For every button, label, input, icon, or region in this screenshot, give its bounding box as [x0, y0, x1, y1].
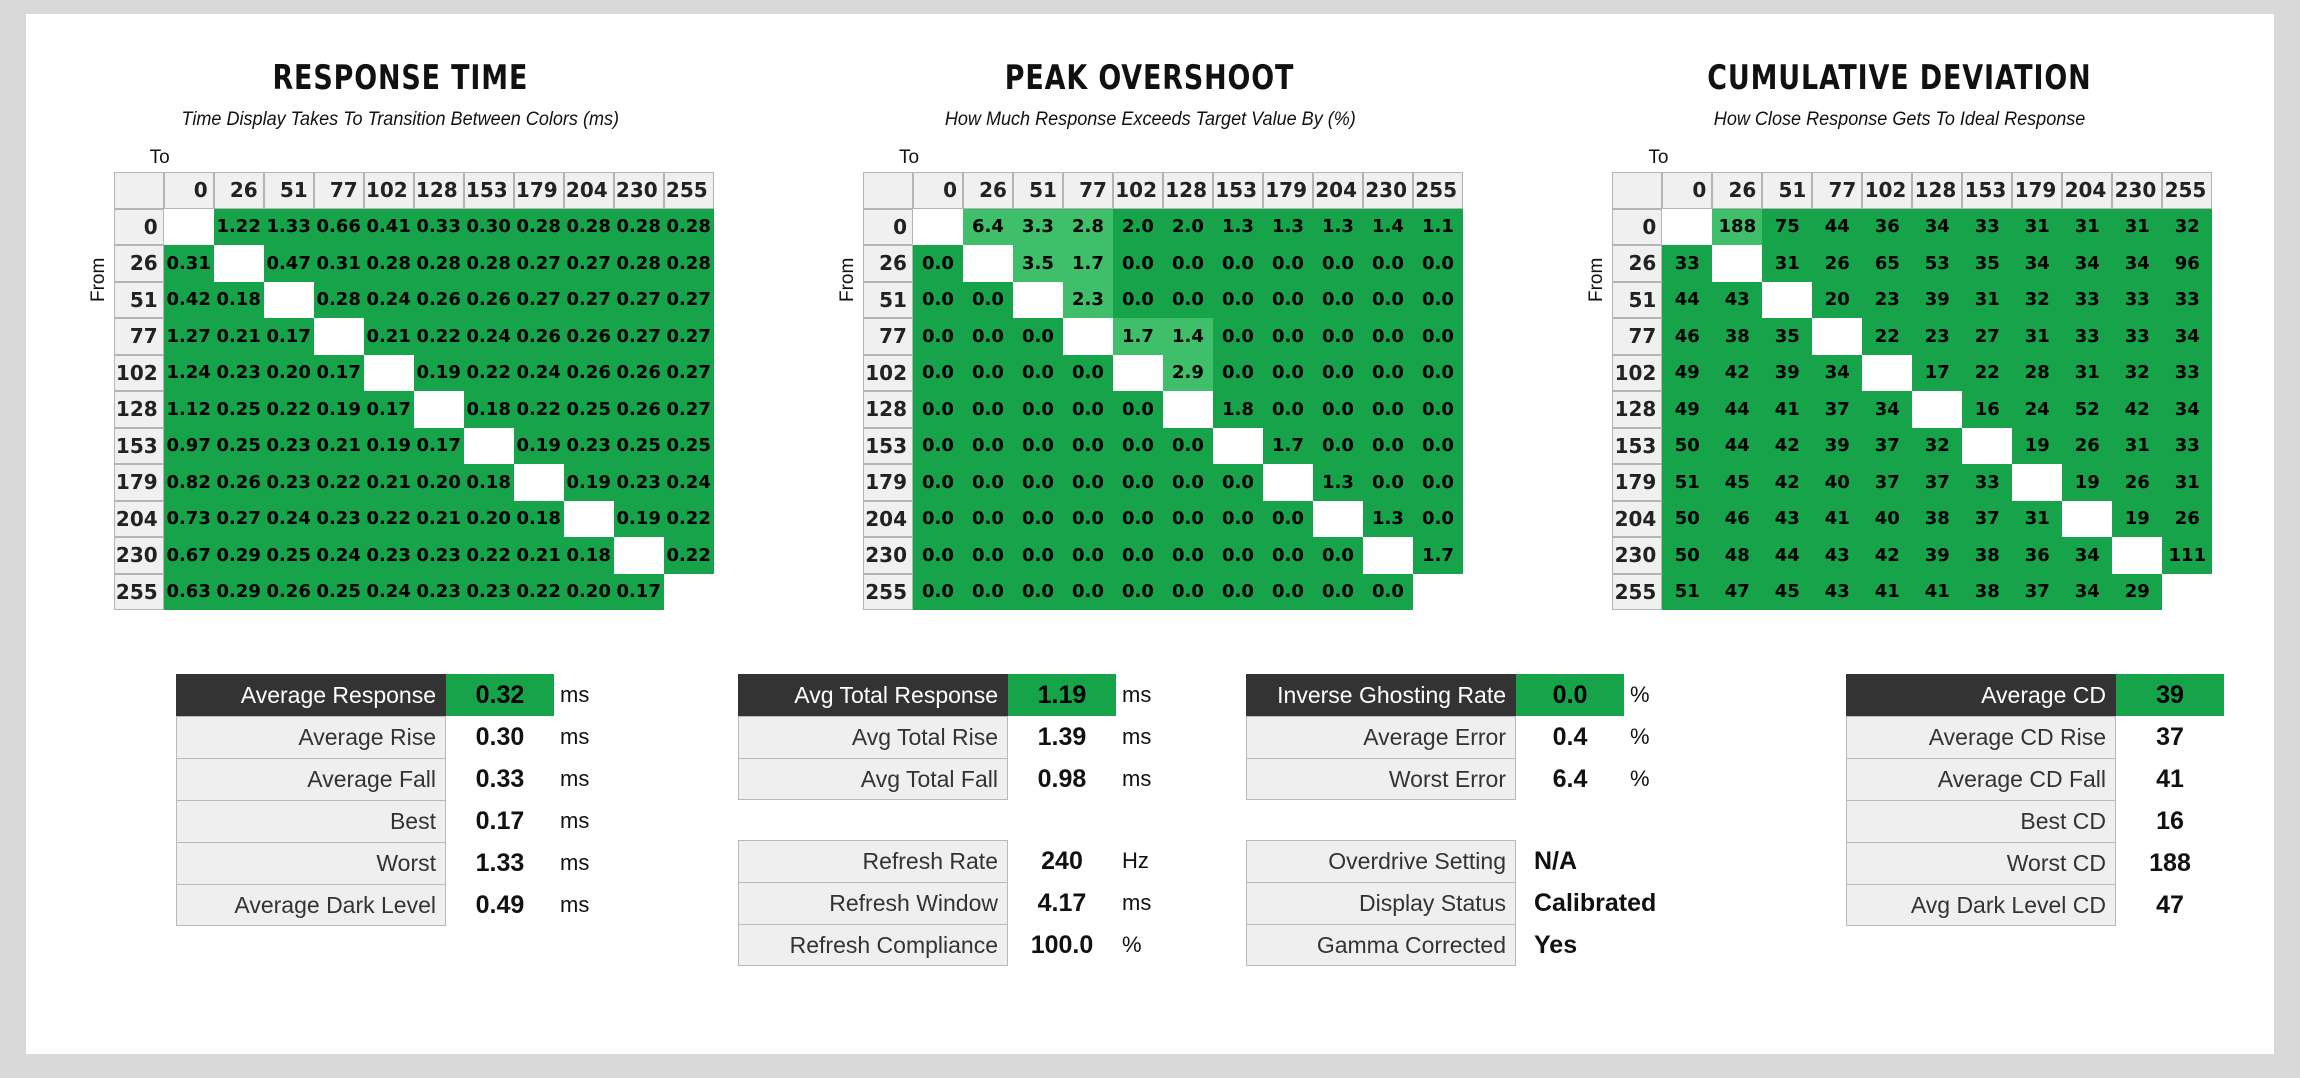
matrix-cell: 33: [2112, 282, 2162, 319]
matrix-cell: 0.31: [314, 245, 364, 282]
matrix-columns: To02651771021281531792042302550188754436…: [1612, 147, 2212, 610]
matrix-row: 01.221.330.660.410.330.300.280.280.280.2…: [114, 209, 714, 246]
row-header: 230: [114, 537, 164, 574]
matrix-cell: 38: [1962, 574, 2012, 611]
matrix-row: 17951454240373733192631: [1612, 464, 2212, 501]
stat-unit: [1666, 882, 1722, 924]
matrix-cell: 0.23: [314, 501, 364, 538]
column-header: 230: [614, 172, 664, 209]
matrix-cell: 0.0: [1213, 464, 1263, 501]
matrix-cell: 1.27: [164, 318, 214, 355]
matrix-diagonal-cell: [1812, 318, 1862, 355]
matrix-cell: 0.17: [614, 574, 664, 611]
matrix-cell: 1.12: [164, 391, 214, 428]
matrix-cell: 16: [1962, 391, 2012, 428]
panel-title: CUMULATIVE DEVIATION: [1707, 58, 2091, 98]
stat-row: Avg Total Rise1.39ms: [738, 716, 1172, 758]
matrix-cell: 2.9: [1163, 355, 1213, 392]
matrix-cell: 0.66: [314, 209, 364, 246]
row-header: 0: [114, 209, 164, 246]
matrix-cell: 0.22: [664, 537, 714, 574]
matrix-cell: 26: [2112, 464, 2162, 501]
stat-value: 100.0: [1008, 924, 1116, 966]
matrix-cell: 0.0: [1013, 537, 1063, 574]
matrix-cell: 0.18: [214, 282, 264, 319]
matrix-cell: 44: [1812, 209, 1862, 246]
column-header: 0: [913, 172, 963, 209]
matrix-cell: 0.0: [913, 245, 963, 282]
matrix-cell: 0.25: [264, 537, 314, 574]
matrix-cell: 0.0: [1413, 245, 1463, 282]
matrix-cell: 36: [1862, 209, 1912, 246]
matrix-cell: 32: [1912, 428, 1962, 465]
column-header: 77: [314, 172, 364, 209]
matrix-diagonal-cell: [1762, 282, 1812, 319]
stats-column-3: Inverse Ghosting Rate0.0%Average Error0.…: [1246, 674, 1722, 1006]
matrix-cell: 52: [2062, 391, 2112, 428]
matrix-cell: 0.0: [1413, 391, 1463, 428]
row-header: 230: [863, 537, 913, 574]
matrix-diagonal-cell: [414, 391, 464, 428]
matrix-row: 2550.630.290.260.250.240.230.230.220.200…: [114, 574, 714, 611]
column-header: 128: [414, 172, 464, 209]
matrix-cell: 75: [1762, 209, 1812, 246]
matrix-cell: 0.26: [614, 391, 664, 428]
matrix-cell: 2.0: [1163, 209, 1213, 246]
matrix-row: 2633312665533534343496: [1612, 245, 2212, 282]
matrix-cell: 0.27: [564, 282, 614, 319]
stat-label: Gamma Corrected: [1246, 924, 1516, 966]
row-header: 0: [863, 209, 913, 246]
stat-value: 6.4: [1516, 758, 1624, 800]
matrix-cell: 39: [1912, 282, 1962, 319]
matrix-cell: 38: [1912, 501, 1962, 538]
matrix-diagonal-cell: [1363, 537, 1413, 574]
matrix-cell: 0.17: [314, 355, 364, 392]
transition-matrix: 0265177102128153179204230255018875443634…: [1612, 172, 2212, 610]
stats-column-1: Average Response0.32msAverage Rise0.30ms…: [176, 674, 610, 1006]
stat-row: Overdrive SettingN/A: [1246, 840, 1722, 882]
matrix-cell: 19: [2112, 501, 2162, 538]
matrix-diagonal-cell: [314, 318, 364, 355]
matrix-cell: 0.0: [1063, 355, 1113, 392]
matrix-cell: 0.28: [664, 245, 714, 282]
matrix-header-row: 0265177102128153179204230255: [114, 172, 714, 209]
matrix-diagonal-cell: [214, 245, 264, 282]
stat-label: Average CD Fall: [1846, 758, 2116, 800]
matrix-cell: 0.27: [514, 245, 564, 282]
column-header: 204: [564, 172, 614, 209]
stat-label: Average Fall: [176, 758, 446, 800]
matrix-cell: 22: [1862, 318, 1912, 355]
matrix-cell: 0.0: [1063, 574, 1113, 611]
matrix-diagonal-cell: [2112, 537, 2162, 574]
stat-unit: ms: [554, 800, 610, 842]
matrix-cell: 0.47: [264, 245, 314, 282]
matrix-cell: 44: [1712, 428, 1762, 465]
stats-block: Average CD39Average CD Rise37Average CD …: [1846, 674, 2280, 926]
matrix-cell: 0.24: [314, 537, 364, 574]
matrix-cell: 0.27: [564, 245, 614, 282]
stats-block: Refresh Rate240HzRefresh Window4.17msRef…: [738, 840, 1172, 966]
matrix-cell: 96: [2162, 245, 2212, 282]
stat-row: Average CD Rise37: [1846, 716, 2280, 758]
matrix-cell: 0.0: [1113, 464, 1163, 501]
matrix-cell: 0.0: [1263, 318, 1313, 355]
matrix-cell: 0.18: [464, 464, 514, 501]
matrix-cell: 0.0: [1163, 537, 1213, 574]
matrix-cell: 37: [1962, 501, 2012, 538]
stat-value: 1.39: [1008, 716, 1116, 758]
stats-column-2: Avg Total Response1.19msAvg Total Rise1.…: [738, 674, 1172, 1006]
stat-unit: %: [1624, 674, 1680, 716]
matrix-cell: 33: [2062, 318, 2112, 355]
matrix-cell: 1.7: [1263, 428, 1313, 465]
matrix-cell: 41: [1912, 574, 1962, 611]
matrix-cell: 0.20: [564, 574, 614, 611]
matrix-cell: 3.5: [1013, 245, 1063, 282]
matrix-cell: 17: [1912, 355, 1962, 392]
matrix-columns: To026517710212815317920423025501.221.330…: [114, 147, 714, 610]
matrix-row: 510.420.180.280.240.260.260.270.270.270.…: [114, 282, 714, 319]
matrix-cell: 0.0: [1363, 245, 1413, 282]
matrix-cell: 0.82: [164, 464, 214, 501]
matrix-corner-cell: [863, 172, 913, 209]
matrix-cell: 0.26: [414, 282, 464, 319]
matrix-cell: 32: [2112, 355, 2162, 392]
matrix-cell: 0.0: [1213, 282, 1263, 319]
matrix-cell: 0.23: [214, 355, 264, 392]
row-header: 0: [1612, 209, 1662, 246]
stat-unit: Hz: [1116, 840, 1172, 882]
matrix-cell: 45: [1762, 574, 1812, 611]
matrix-cell: 34: [2062, 245, 2112, 282]
matrix-row: 260.310.470.310.280.280.280.270.270.280.…: [114, 245, 714, 282]
matrix-cell: 0.41: [364, 209, 414, 246]
matrix-cell: 35: [1762, 318, 1812, 355]
matrix-cell: 43: [1812, 537, 1862, 574]
column-header: 26: [1712, 172, 1762, 209]
matrix-cell: 0.25: [564, 391, 614, 428]
matrix-cell: 0.0: [1313, 318, 1363, 355]
matrix-cell: 0.22: [514, 574, 564, 611]
matrix-cell: 38: [1962, 537, 2012, 574]
matrix-row: 12849444137341624524234: [1612, 391, 2212, 428]
stat-label: Best CD: [1846, 800, 2116, 842]
stat-row: Average Dark Level0.49ms: [176, 884, 610, 926]
axis-label-from: From: [837, 205, 863, 355]
matrix-row: 1021.240.230.200.170.190.220.240.260.260…: [114, 355, 714, 392]
matrix-cell: 24: [2012, 391, 2062, 428]
column-header: 179: [2012, 172, 2062, 209]
matrix-corner-cell: [114, 172, 164, 209]
matrix-cell: 0.0: [1113, 574, 1163, 611]
matrix-panel-0: RESPONSE TIMETime Display Takes To Trans…: [26, 14, 775, 610]
column-header: 204: [2062, 172, 2112, 209]
matrix-row: 230504844434239383634111: [1612, 537, 2212, 574]
stat-row: Best0.17ms: [176, 800, 610, 842]
matrix-cell: 0.21: [314, 428, 364, 465]
matrix-cell: 0.17: [414, 428, 464, 465]
stat-value: 0.30: [446, 716, 554, 758]
matrix-diagonal-cell: [464, 428, 514, 465]
matrix-cell: 34: [2162, 391, 2212, 428]
matrix-cell: 1.1: [1413, 209, 1463, 246]
stat-value: 0.49: [446, 884, 554, 926]
matrix-cell: 45: [1712, 464, 1762, 501]
matrix-cell: 188: [1712, 209, 1762, 246]
row-header: 77: [863, 318, 913, 355]
row-header: 255: [863, 574, 913, 611]
matrix-cell: 0.0: [1113, 282, 1163, 319]
matrix-cell: 0.25: [214, 428, 264, 465]
stat-label: Avg Total Fall: [738, 758, 1008, 800]
matrix-cell: 0.0: [1013, 428, 1063, 465]
stat-value: 0.98: [1008, 758, 1116, 800]
matrix-cell: 0.0: [913, 318, 963, 355]
matrix-row: 770.00.00.01.71.40.00.00.00.00.0: [863, 318, 1463, 355]
matrix-cell: 0.25: [664, 428, 714, 465]
matrix-cell: 32: [2162, 209, 2212, 246]
matrix-cell: 0.25: [314, 574, 364, 611]
matrix-wrapper: FromTo026517710212815317920423025501.221…: [88, 147, 714, 610]
matrix-cell: 0.0: [1363, 391, 1413, 428]
matrix-cell: 0.0: [1313, 428, 1363, 465]
matrix-cell: 0.0: [1113, 245, 1163, 282]
stat-row: Refresh Compliance100.0%: [738, 924, 1172, 966]
matrix-cell: 44: [1662, 282, 1712, 319]
stat-value: 0.33: [446, 758, 554, 800]
matrix-cell: 0.23: [614, 464, 664, 501]
stat-value: 0.17: [446, 800, 554, 842]
column-header: 0: [164, 172, 214, 209]
matrix-cell: 0.0: [1013, 464, 1063, 501]
matrix-cell: 0.23: [414, 574, 464, 611]
matrix-cell: 0.28: [614, 245, 664, 282]
row-header: 128: [863, 391, 913, 428]
row-header: 204: [863, 501, 913, 538]
matrix-cell: 0.23: [364, 537, 414, 574]
stat-unit: ms: [554, 674, 610, 716]
stat-value: 4.17: [1008, 882, 1116, 924]
column-header: 51: [1013, 172, 1063, 209]
matrix-diagonal-cell: [1912, 391, 1962, 428]
matrix-cell: 22: [1962, 355, 2012, 392]
column-header: 102: [364, 172, 414, 209]
column-header: 77: [1063, 172, 1113, 209]
matrix-cell: 0.21: [214, 318, 264, 355]
column-header: 153: [1962, 172, 2012, 209]
stat-unit: [2224, 758, 2280, 800]
matrix-cell: 0.0: [1413, 428, 1463, 465]
matrix-diagonal-cell: [2012, 464, 2062, 501]
matrix-cell: 0.0: [1413, 318, 1463, 355]
matrix-cell: 1.7: [1063, 245, 1113, 282]
matrix-row: 1530.00.00.00.00.00.01.70.00.00.0: [863, 428, 1463, 465]
matrix-cell: 2.3: [1063, 282, 1113, 319]
matrix-cell: 0.28: [464, 245, 514, 282]
stat-label: Average Dark Level: [176, 884, 446, 926]
matrix-cell: 0.0: [913, 501, 963, 538]
matrix-wrapper: FromTo0265177102128153179204230255018875…: [1586, 147, 2212, 610]
row-header: 179: [114, 464, 164, 501]
matrix-cell: 0.19: [514, 428, 564, 465]
stat-unit: ms: [554, 842, 610, 884]
stat-label: Display Status: [1246, 882, 1516, 924]
matrix-cell: 0.0: [1163, 464, 1213, 501]
matrix-cell: 44: [1762, 537, 1812, 574]
matrix-cell: 0.0: [1113, 428, 1163, 465]
matrix-row: 2300.670.290.250.240.230.230.220.210.180…: [114, 537, 714, 574]
matrix-cell: 0.0: [963, 537, 1013, 574]
row-header: 51: [863, 282, 913, 319]
matrix-cell: 0.0: [963, 574, 1013, 611]
matrix-cell: 0.28: [314, 282, 364, 319]
matrix-cell: 0.21: [514, 537, 564, 574]
matrix-cell: 0.0: [963, 318, 1013, 355]
matrix-diagonal-cell: [564, 501, 614, 538]
column-header: 51: [1762, 172, 1812, 209]
row-header: 26: [863, 245, 913, 282]
matrix-cell: 0.0: [1063, 464, 1113, 501]
stat-value: N/A: [1516, 840, 1666, 882]
matrix-cell: 0.0: [1313, 574, 1363, 611]
stats-block: Average Response0.32msAverage Rise0.30ms…: [176, 674, 610, 926]
matrix-cell: 0.20: [464, 501, 514, 538]
matrix-cell: 0.0: [1163, 245, 1213, 282]
matrix-cell: 0.0: [1113, 537, 1163, 574]
column-header: 179: [514, 172, 564, 209]
matrix-cell: 42: [1712, 355, 1762, 392]
stat-value: 39: [2116, 674, 2224, 716]
stat-label: Average Error: [1246, 716, 1516, 758]
matrix-cell: 0.0: [1263, 574, 1313, 611]
matrix-cell: 41: [1862, 574, 1912, 611]
matrix-cell: 46: [1712, 501, 1762, 538]
matrix-row: 20450464341403837311926: [1612, 501, 2212, 538]
stat-label: Average Rise: [176, 716, 446, 758]
matrix-cell: 0.0: [1113, 501, 1163, 538]
matrix-cell: 0.0: [1213, 574, 1263, 611]
row-header: 102: [863, 355, 913, 392]
stat-unit: [1666, 840, 1722, 882]
matrix-row: 510.00.02.30.00.00.00.00.00.00.0: [863, 282, 1463, 319]
stat-row: Average Error0.4%: [1246, 716, 1722, 758]
column-header: 26: [963, 172, 1013, 209]
matrix-cell: 0.73: [164, 501, 214, 538]
stat-row-primary: Inverse Ghosting Rate0.0%: [1246, 674, 1722, 716]
column-header: 255: [1413, 172, 1463, 209]
matrix-diagonal-cell: [614, 537, 664, 574]
stat-row: Average CD Fall41: [1846, 758, 2280, 800]
matrix-cell: 0.27: [664, 391, 714, 428]
matrix-cell: 42: [2112, 391, 2162, 428]
matrix-cell: 0.19: [614, 501, 664, 538]
matrix-cell: 0.22: [664, 501, 714, 538]
matrix-cell: 0.0: [1013, 574, 1063, 611]
matrix-cell: 0.26: [564, 318, 614, 355]
matrix-cell: 28: [2012, 355, 2062, 392]
stat-label: Avg Total Rise: [738, 716, 1008, 758]
stat-label: Average CD: [1846, 674, 2116, 716]
matrix-cell: 0.26: [564, 355, 614, 392]
panel-title: PEAK OVERSHOOT: [1005, 58, 1295, 98]
matrix-diagonal-cell: [1413, 574, 1463, 611]
matrix-diagonal-cell: [364, 355, 414, 392]
matrix-cell: 0.0: [1263, 391, 1313, 428]
matrix-row: 1280.00.00.00.00.01.80.00.00.00.0: [863, 391, 1463, 428]
stat-row: Refresh Window4.17ms: [738, 882, 1172, 924]
matrix-cell: 0.0: [1013, 355, 1063, 392]
stat-row: Average Rise0.30ms: [176, 716, 610, 758]
matrix-cell: 0.0: [1313, 537, 1363, 574]
stat-value: 0.4: [1516, 716, 1624, 758]
matrix-cell: 0.25: [214, 391, 264, 428]
column-header: 255: [664, 172, 714, 209]
matrix-cell: 0.0: [1263, 537, 1313, 574]
matrix-row: 1281.120.250.220.190.170.180.220.250.260…: [114, 391, 714, 428]
matrix-cell: 38: [1712, 318, 1762, 355]
column-header: 128: [1912, 172, 1962, 209]
matrix-cell: 0.0: [913, 464, 963, 501]
stat-label: Worst: [176, 842, 446, 884]
matrix-diagonal-cell: [1962, 428, 2012, 465]
stat-row: Display StatusCalibrated: [1246, 882, 1722, 924]
matrix-panels: RESPONSE TIMETime Display Takes To Trans…: [26, 14, 2274, 610]
matrix-cell: 31: [2062, 209, 2112, 246]
stat-value: 240: [1008, 840, 1116, 882]
matrix-cell: 1.3: [1313, 464, 1363, 501]
matrix-cell: 0.27: [214, 501, 264, 538]
matrix-cell: 0.0: [1063, 537, 1113, 574]
stat-row: Worst1.33ms: [176, 842, 610, 884]
matrix-cell: 50: [1662, 428, 1712, 465]
matrix-cell: 34: [2162, 318, 2212, 355]
stat-label: Average Response: [176, 674, 446, 716]
matrix-cell: 0.0: [1163, 501, 1213, 538]
matrix-cell: 0.27: [614, 282, 664, 319]
stat-unit: ms: [1116, 674, 1172, 716]
matrix-cell: 0.26: [614, 355, 664, 392]
matrix-cell: 0.19: [314, 391, 364, 428]
matrix-cell: 0.26: [514, 318, 564, 355]
matrix-cell: 33: [2162, 428, 2212, 465]
matrix-cell: 0.0: [1263, 245, 1313, 282]
stat-label: Average CD Rise: [1846, 716, 2116, 758]
matrix-diagonal-cell: [1063, 318, 1113, 355]
matrix-cell: 0.26: [214, 464, 264, 501]
matrix-cell: 2.0: [1113, 209, 1163, 246]
matrix-cell: 0.23: [564, 428, 614, 465]
panel-subtitle: Time Display Takes To Transition Between…: [182, 109, 620, 131]
matrix-cell: 26: [1812, 245, 1862, 282]
row-header: 77: [1612, 318, 1662, 355]
matrix-cell: 0.33: [414, 209, 464, 246]
matrix-cell: 1.7: [1413, 537, 1463, 574]
matrix-wrapper: FromTo026517710212815317920423025506.43.…: [837, 147, 1463, 610]
matrix-cell: 0.0: [963, 282, 1013, 319]
matrix-cell: 33: [1662, 245, 1712, 282]
stat-row: Avg Dark Level CD47: [1846, 884, 2280, 926]
matrix-cell: 20: [1812, 282, 1862, 319]
matrix-cell: 0.97: [164, 428, 214, 465]
matrix-cell: 33: [2062, 282, 2112, 319]
stat-value: Yes: [1516, 924, 1666, 966]
matrix-cell: 42: [1762, 428, 1812, 465]
column-header: 128: [1163, 172, 1213, 209]
stat-label: Best: [176, 800, 446, 842]
matrix-cell: 31: [2112, 428, 2162, 465]
